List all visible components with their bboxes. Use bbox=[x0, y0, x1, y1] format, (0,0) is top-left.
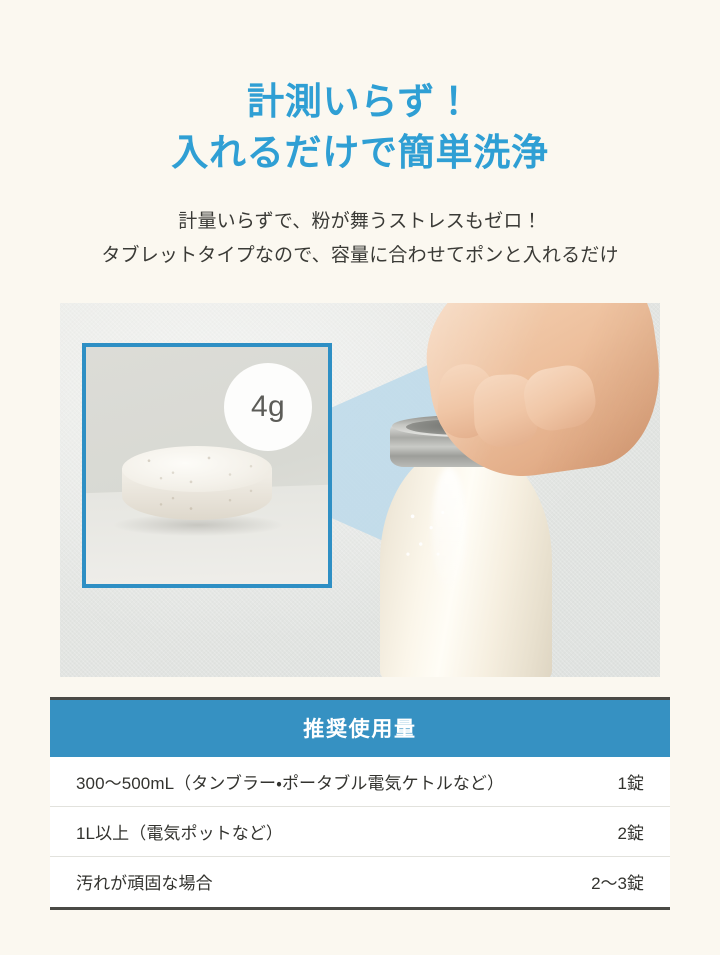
tablet-top bbox=[122, 446, 272, 492]
usage-amount: 2錠 bbox=[604, 819, 644, 844]
usage-table: 推奨使用量 300〜500mL（タンブラー・ポータブル電気ケトルなど） 1錠 1… bbox=[50, 697, 670, 910]
insulated-bottle bbox=[380, 443, 552, 677]
weight-badge-label: 4g bbox=[251, 390, 285, 424]
bottle-scene bbox=[324, 303, 624, 677]
page-subtitle: 計量いらずで、粉が舞うストレスもゼロ！ タブレットタイプなので、容量に合わせてポ… bbox=[0, 205, 720, 273]
usage-table-header: 推奨使用量 bbox=[50, 700, 670, 757]
tablet-speckle-top bbox=[122, 446, 272, 492]
subtitle-line-2: タブレットタイプなので、容量に合わせてポンと入れるだけ bbox=[0, 239, 720, 273]
table-row: 300〜500mL（タンブラー・ポータブル電気ケトルなど） 1錠 bbox=[50, 757, 670, 807]
usage-label: 1L以上（電気ポットなど） bbox=[76, 819, 283, 844]
bottle-droplets bbox=[401, 505, 459, 567]
page-headline: 計測いらず！ 入れるだけで簡単洗浄 bbox=[0, 25, 720, 179]
subtitle-line-1: 計量いらずで、粉が舞うストレスもゼロ！ bbox=[0, 205, 720, 239]
usage-amount: 2〜3錠 bbox=[577, 869, 644, 894]
headline-line-1: 計測いらず！ bbox=[0, 77, 720, 128]
usage-label: 300〜500mL（タンブラー・ポータブル電気ケトルなど） bbox=[76, 769, 504, 794]
product-photo: 4g bbox=[60, 303, 660, 677]
table-row: 1L以上（電気ポットなど） 2錠 bbox=[50, 807, 670, 857]
tablet-closeup-inset: 4g bbox=[82, 343, 332, 588]
cleaning-tablet-icon bbox=[122, 446, 272, 532]
product-feature-page: 計測いらず！ 入れるだけで簡単洗浄 計量いらずで、粉が舞うストレスもゼロ！ タブ… bbox=[0, 25, 720, 955]
weight-badge: 4g bbox=[224, 363, 312, 451]
headline-line-2: 入れるだけで簡単洗浄 bbox=[0, 128, 720, 179]
table-row: 汚れが頑固な場合 2〜3錠 bbox=[50, 857, 670, 907]
usage-amount: 1錠 bbox=[604, 769, 644, 794]
usage-label: 汚れが頑固な場合 bbox=[76, 869, 213, 894]
